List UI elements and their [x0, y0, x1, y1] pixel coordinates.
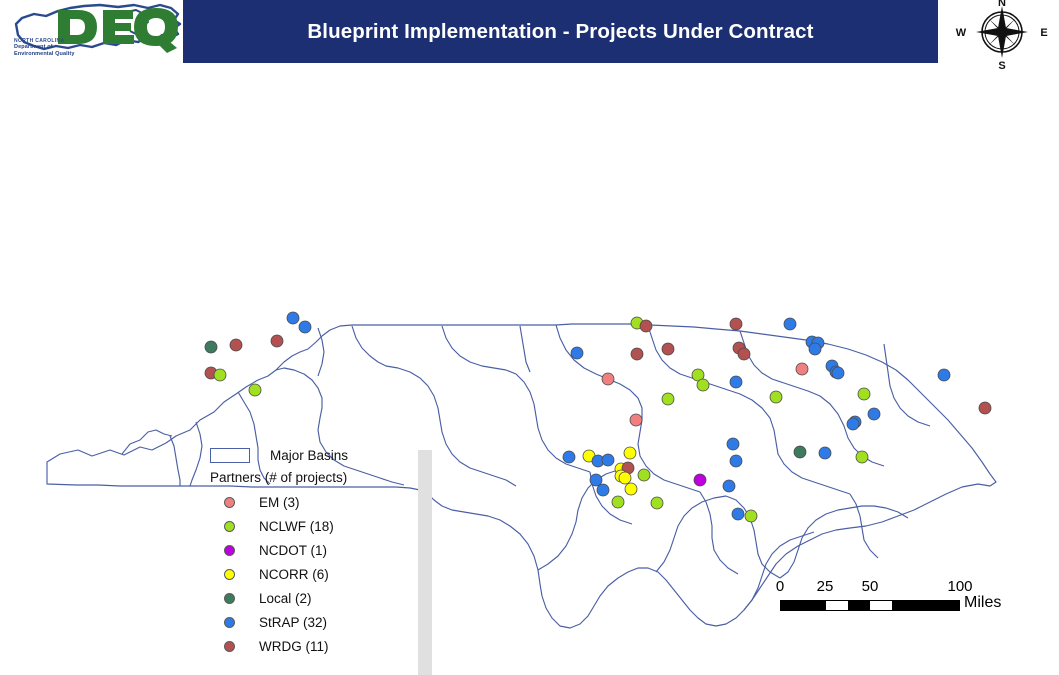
compass-rose-icon: N E S W — [952, 0, 1052, 70]
legend-basins-label: Major Basins — [270, 448, 348, 463]
project-marker-ncorr[interactable] — [624, 447, 636, 459]
scale-units-label: Miles — [964, 594, 1001, 612]
project-marker-strap[interactable] — [938, 369, 950, 381]
project-marker-nclwf[interactable] — [770, 391, 782, 403]
project-marker-strap[interactable] — [730, 455, 742, 467]
project-marker-nclwf[interactable] — [214, 369, 226, 381]
deq-logo-wordmark: NORTH CAROLINA Department of Environment… — [14, 38, 134, 57]
legend-row-local[interactable]: Local (2) — [210, 586, 410, 610]
scale-tick-50: 50 — [862, 578, 879, 595]
project-marker-strap[interactable] — [832, 367, 844, 379]
project-marker-em[interactable] — [796, 363, 808, 375]
project-marker-strap[interactable] — [723, 480, 735, 492]
project-marker-strap[interactable] — [809, 343, 821, 355]
project-marker-strap[interactable] — [847, 418, 859, 430]
legend-dot-ncdot-icon — [224, 545, 235, 556]
project-marker-wrdg[interactable] — [979, 402, 991, 414]
scale-tick-100: 100 — [947, 578, 972, 595]
scale-tick-labels: 02550100 — [780, 578, 995, 598]
project-marker-strap[interactable] — [868, 408, 880, 420]
compass-east-label: E — [1040, 27, 1047, 39]
project-marker-nclwf[interactable] — [612, 496, 624, 508]
project-marker-strap[interactable] — [784, 318, 796, 330]
legend-row-ncorr[interactable]: NCORR (6) — [210, 562, 410, 586]
legend-label-nclwf: NCLWF (18) — [259, 519, 334, 534]
project-marker-ncorr[interactable] — [625, 483, 637, 495]
basin-swatch-icon — [210, 448, 250, 463]
project-marker-ncorr[interactable] — [619, 472, 631, 484]
project-marker-strap[interactable] — [732, 508, 744, 520]
legend-partners-title: Partners (# of projects) — [210, 470, 410, 485]
legend-dot-ncorr-icon — [224, 569, 235, 580]
project-marker-nclwf[interactable] — [249, 384, 261, 396]
project-marker-strap[interactable] — [571, 347, 583, 359]
legend-label-strap: StRAP (32) — [259, 615, 327, 630]
project-marker-strap[interactable] — [597, 484, 609, 496]
scale-segment-white-1 — [826, 601, 848, 610]
page-title: Blueprint Implementation - Projects Unde… — [307, 20, 813, 44]
project-marker-wrdg[interactable] — [662, 343, 674, 355]
legend-label-wrdg: WRDG (11) — [259, 639, 329, 654]
project-marker-strap[interactable] — [563, 451, 575, 463]
vertical-scrollbar[interactable] — [418, 450, 432, 675]
legend-row-ncdot[interactable]: NCDOT (1) — [210, 538, 410, 562]
legend-label-local: Local (2) — [259, 591, 312, 606]
scale-track — [780, 600, 960, 611]
legend-row-wrdg[interactable]: WRDG (11) — [210, 634, 410, 658]
project-marker-nclwf[interactable] — [697, 379, 709, 391]
project-marker-strap[interactable] — [727, 438, 739, 450]
project-marker-strap[interactable] — [602, 454, 614, 466]
compass-west-label: W — [956, 27, 967, 39]
project-marker-wrdg[interactable] — [230, 339, 242, 351]
legend-dot-nclwf-icon — [224, 521, 235, 532]
project-marker-wrdg[interactable] — [631, 348, 643, 360]
page-header: NORTH CAROLINA Department of Environment… — [0, 0, 1059, 72]
compass-north-label: N — [998, 0, 1006, 9]
project-marker-local[interactable] — [205, 341, 217, 353]
logo-dept-line-2: Environmental Quality — [14, 51, 134, 57]
legend-partner-rows: EM (3)NCLWF (18)NCDOT (1)NCORR (6)Local … — [210, 490, 410, 658]
compass-south-label: S — [998, 60, 1005, 70]
project-marker-nclwf[interactable] — [858, 388, 870, 400]
legend-dot-local-icon — [224, 593, 235, 604]
project-marker-nclwf[interactable] — [638, 469, 650, 481]
legend-label-ncorr: NCORR (6) — [259, 567, 329, 582]
project-marker-nclwf[interactable] — [651, 497, 663, 509]
legend-row-strap[interactable]: StRAP (32) — [210, 610, 410, 634]
project-marker-nclwf[interactable] — [856, 451, 868, 463]
legend-row-nclwf[interactable]: NCLWF (18) — [210, 514, 410, 538]
map-legend: Major Basins Partners (# of projects) EM… — [210, 445, 410, 658]
legend-dot-strap-icon — [224, 617, 235, 628]
project-marker-strap[interactable] — [287, 312, 299, 324]
project-marker-strap[interactable] — [590, 474, 602, 486]
project-marker-strap[interactable] — [299, 321, 311, 333]
map-scale-bar: 02550100 Miles — [780, 578, 995, 623]
project-marker-local[interactable] — [794, 446, 806, 458]
legend-label-ncdot: NCDOT (1) — [259, 543, 327, 558]
project-marker-ncdot[interactable] — [694, 474, 706, 486]
project-marker-wrdg[interactable] — [271, 335, 283, 347]
project-marker-strap[interactable] — [819, 447, 831, 459]
scale-tick-0: 0 — [776, 578, 784, 595]
project-marker-wrdg[interactable] — [640, 320, 652, 332]
scale-tick-25: 25 — [817, 578, 834, 595]
legend-basins-row: Major Basins — [210, 445, 410, 465]
deq-logo: NORTH CAROLINA Department of Environment… — [8, 2, 184, 64]
project-marker-nclwf[interactable] — [745, 510, 757, 522]
project-marker-nclwf[interactable] — [662, 393, 674, 405]
legend-label-em: EM (3) — [259, 495, 300, 510]
project-marker-em[interactable] — [630, 414, 642, 426]
legend-dot-wrdg-icon — [224, 641, 235, 652]
project-marker-em[interactable] — [602, 373, 614, 385]
legend-dot-em-icon — [224, 497, 235, 508]
project-marker-strap[interactable] — [730, 376, 742, 388]
legend-row-em[interactable]: EM (3) — [210, 490, 410, 514]
scale-segment-white-2 — [870, 601, 892, 610]
project-marker-wrdg[interactable] — [730, 318, 742, 330]
project-marker-wrdg[interactable] — [738, 348, 750, 360]
title-bar: Blueprint Implementation - Projects Unde… — [183, 0, 938, 63]
